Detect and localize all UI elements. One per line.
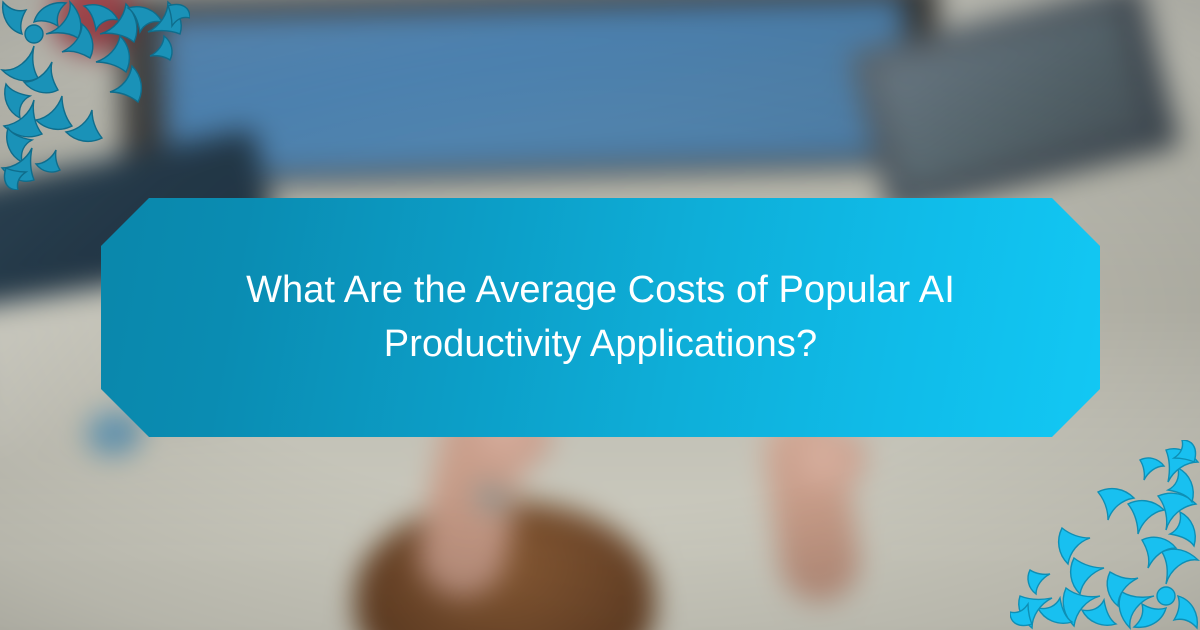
title-banner: What Are the Average Costs of Popular AI…: [101, 198, 1100, 437]
page-title: What Are the Average Costs of Popular AI…: [201, 264, 1001, 372]
hero-banner-canvas: What Are the Average Costs of Popular AI…: [0, 0, 1200, 630]
